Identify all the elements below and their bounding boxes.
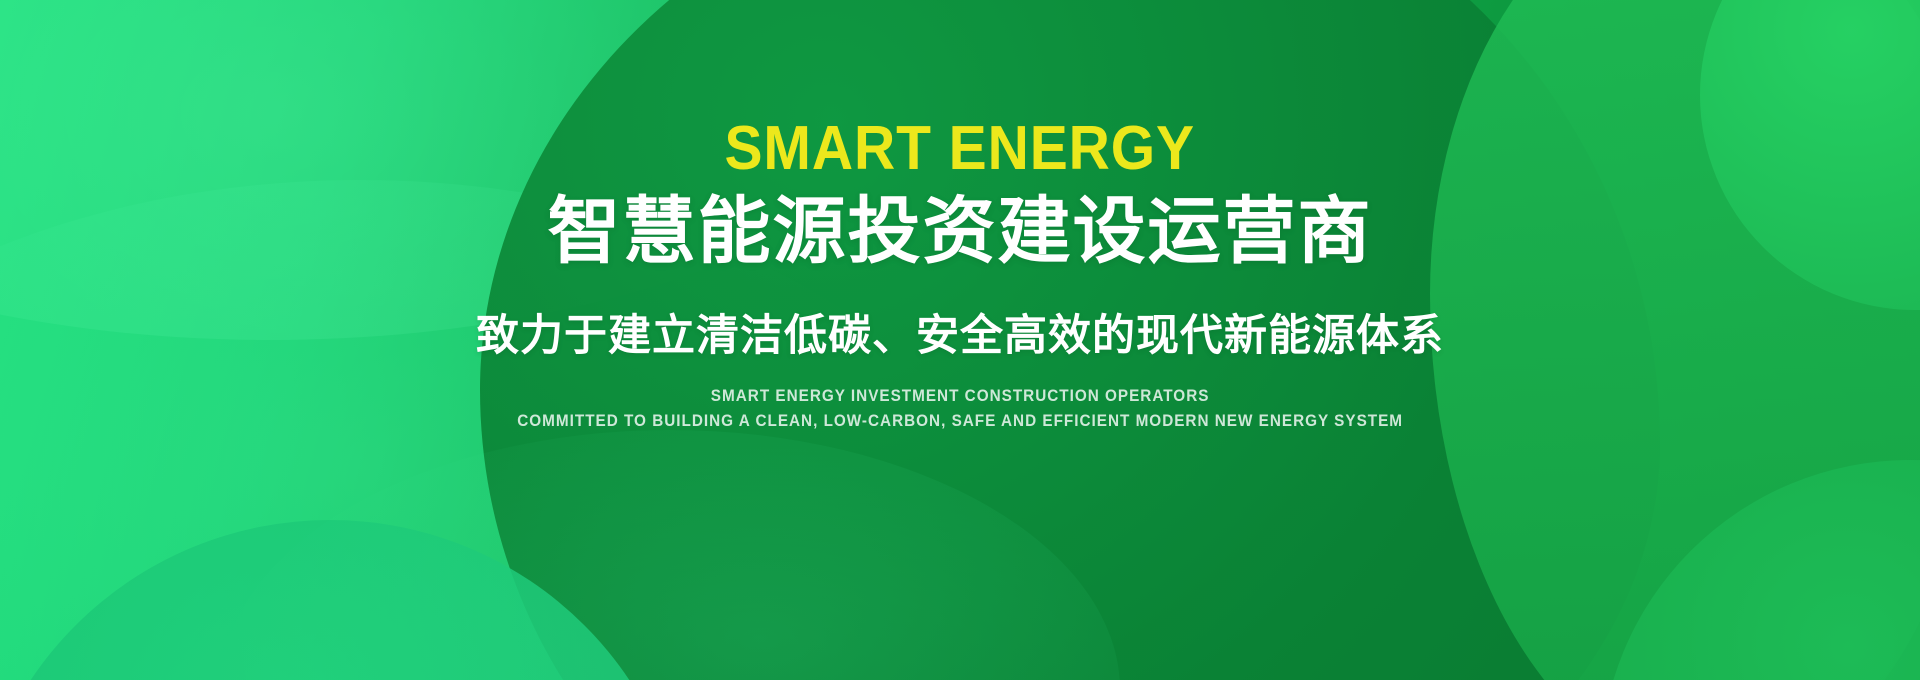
banner-english-block: SMART ENERGY INVESTMENT CONSTRUCTION OPE…	[468, 384, 1452, 433]
banner-english-line-1: SMART ENERGY INVESTMENT CONSTRUCTION OPE…	[517, 384, 1403, 409]
banner-eyebrow: SMART ENERGY	[725, 118, 1196, 180]
banner-subheadline: 致力于建立清洁低碳、安全高效的现代新能源体系	[476, 313, 1444, 360]
banner-headline: 智慧能源投资建设运营商	[548, 194, 1373, 271]
banner-english-line-2: COMMITTED TO BUILDING A CLEAN, LOW-CARBO…	[517, 409, 1403, 434]
hero-banner: SMART ENERGY 智慧能源投资建设运营商 致力于建立清洁低碳、安全高效的…	[0, 0, 1920, 680]
banner-content: SMART ENERGY 智慧能源投资建设运营商 致力于建立清洁低碳、安全高效的…	[0, 0, 1920, 680]
